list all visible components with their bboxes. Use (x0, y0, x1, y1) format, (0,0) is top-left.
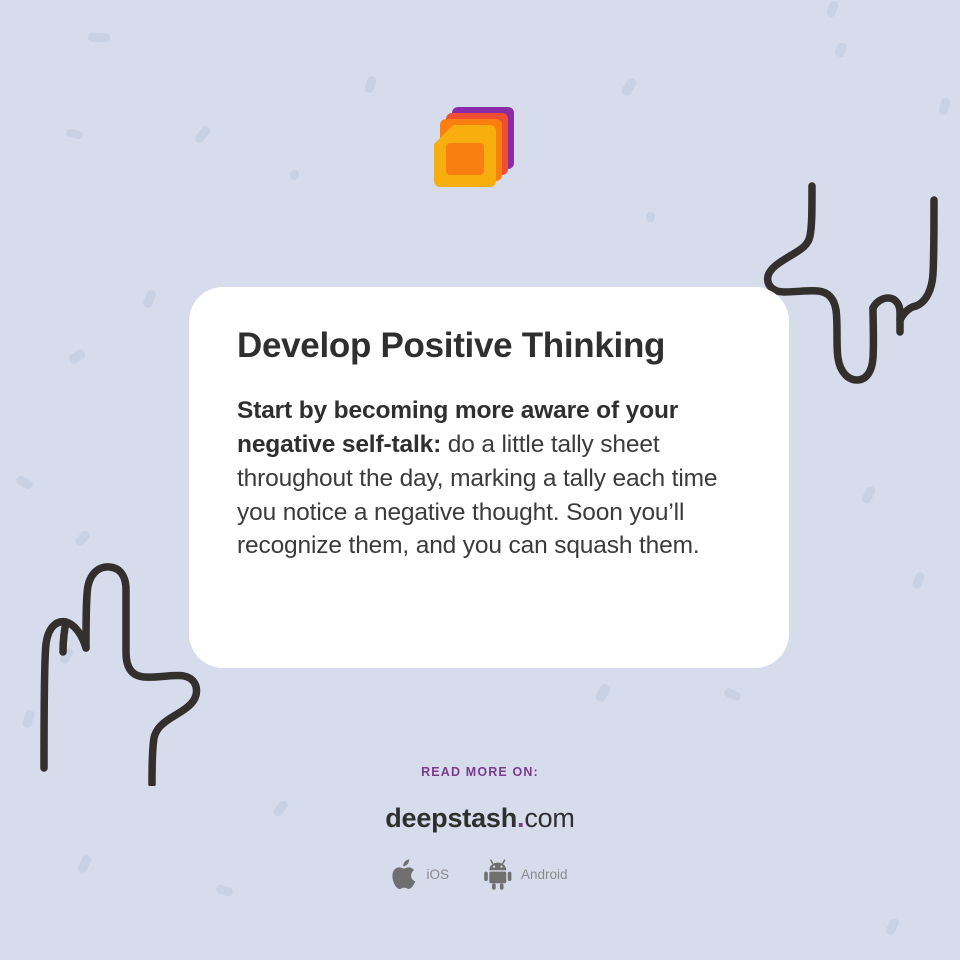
brand-tld: com (524, 803, 574, 833)
confetti-speck (885, 917, 901, 936)
confetti-speck (364, 75, 378, 94)
page-title: Develop Positive Thinking (237, 325, 741, 366)
brand-name: deepstash (385, 803, 517, 833)
confetti-speck (21, 709, 35, 729)
poster-canvas: Develop Positive Thinking Start by becom… (0, 0, 960, 960)
hand-pointing-up-icon (18, 556, 208, 786)
read-more-label: READ MORE ON: (0, 765, 960, 779)
confetti-speck (142, 289, 157, 309)
confetti-speck (59, 647, 75, 665)
idea-card: Develop Positive Thinking Start by becom… (189, 287, 789, 668)
apple-icon (392, 859, 418, 890)
confetti-speck (826, 0, 840, 18)
confetti-speck (15, 474, 34, 490)
confetti-speck (290, 170, 299, 180)
confetti-speck (938, 97, 951, 116)
store-badges: iOS And (0, 859, 960, 890)
confetti-speck (723, 687, 742, 702)
store-badge-ios[interactable]: iOS (392, 859, 449, 890)
confetti-speck (65, 128, 83, 140)
confetti-speck (193, 124, 212, 145)
confetti-speck (67, 348, 87, 366)
confetti-speck (911, 571, 926, 590)
confetti-speck (834, 42, 849, 59)
confetti-speck (646, 212, 655, 222)
brand-wordmark[interactable]: deepstash.com (0, 803, 960, 834)
deepstash-logo-icon (428, 103, 522, 197)
confetti-speck (860, 485, 876, 505)
store-badge-android[interactable]: Android (483, 859, 568, 890)
store-label-ios: iOS (426, 867, 449, 882)
android-icon (483, 859, 513, 890)
confetti-speck (88, 33, 110, 43)
confetti-speck (74, 529, 92, 548)
footer: READ MORE ON: deepstash.com iOS (0, 765, 960, 890)
card-body-text: Start by becoming more aware of your neg… (237, 394, 741, 563)
confetti-speck (620, 77, 638, 98)
store-label-android: Android (521, 867, 568, 882)
confetti-speck (594, 683, 612, 704)
